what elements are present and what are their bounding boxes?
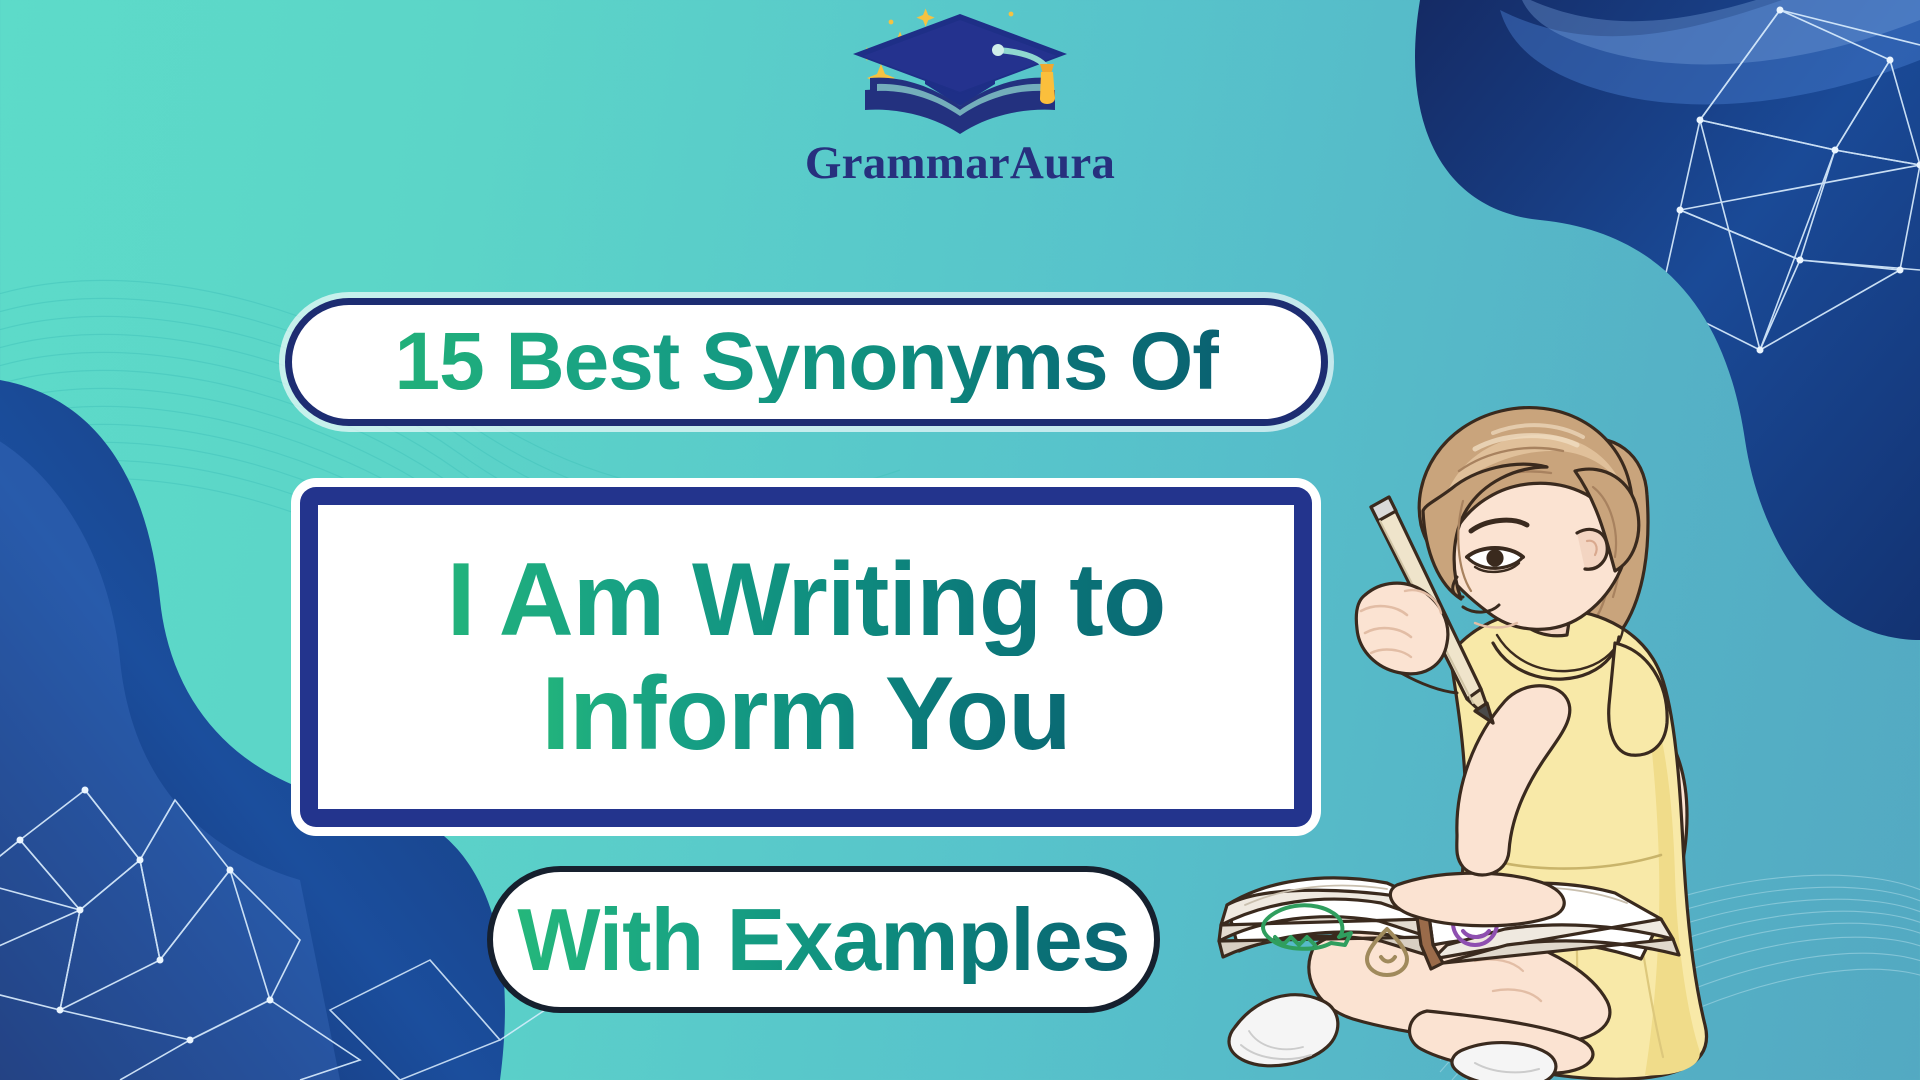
footer-badge: With Examples xyxy=(487,866,1160,1013)
eyebrow-label: 15 Best Synonyms Of xyxy=(394,321,1218,403)
girl-writing-illustration xyxy=(1175,385,1920,1080)
headline-line-1: I Am Writing to xyxy=(447,544,1166,656)
brand-name: GrammarAura xyxy=(805,140,1115,187)
left-sock xyxy=(1229,995,1338,1066)
headline-card: I Am Writing to Inform You xyxy=(300,487,1312,827)
graduation-cap-book-icon xyxy=(835,6,1085,136)
right-sock xyxy=(1452,1043,1556,1080)
eyebrow-badge: 15 Best Synonyms Of xyxy=(285,298,1328,426)
brand-logo: GrammarAura xyxy=(0,6,1920,187)
headline-line-2: Inform You xyxy=(541,658,1070,770)
footer-label: With Examples xyxy=(517,896,1129,984)
left-forearm-lower xyxy=(1390,873,1564,926)
